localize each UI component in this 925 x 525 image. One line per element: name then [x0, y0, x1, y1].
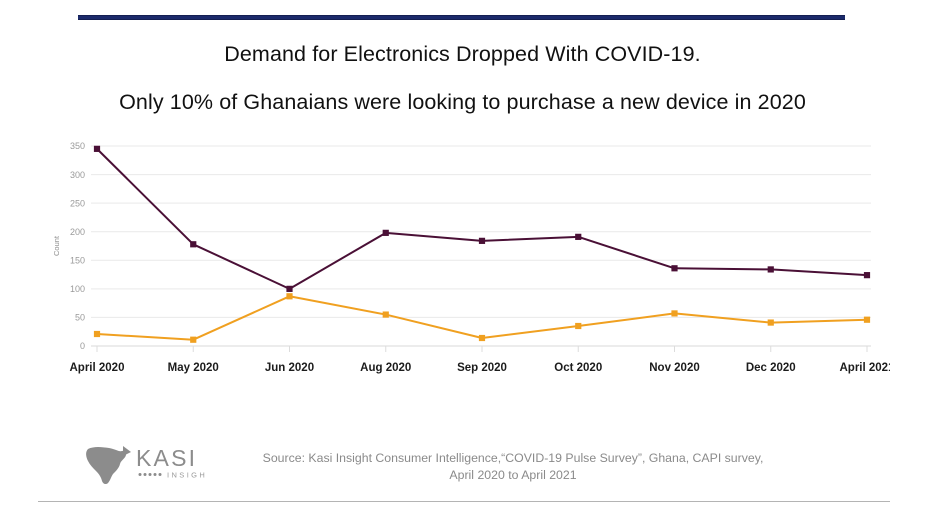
x-tick-label: Jun 2020	[265, 362, 314, 374]
y-tick-label: 250	[70, 198, 85, 208]
x-tick-label: April 2020	[70, 362, 125, 374]
x-tick-label: May 2020	[168, 362, 219, 374]
data-point-marker[interactable]	[383, 312, 388, 317]
y-tick-label: 200	[70, 227, 85, 237]
data-point-marker[interactable]	[576, 324, 581, 329]
logo-wordmark: KASI	[136, 445, 197, 471]
x-tick-label: Dec 2020	[746, 362, 796, 374]
source-note: Source: Kasi Insight Consumer Intelligen…	[218, 450, 808, 484]
kasi-insight-logo: KASI INSIGHT	[82, 443, 207, 489]
x-tick-label: Sep 2020	[457, 362, 507, 374]
logo-dots-icon	[139, 473, 162, 476]
data-point-marker[interactable]	[576, 234, 581, 239]
slide-canvas: Demand for Electronics Dropped With COVI…	[0, 0, 925, 525]
series-line-1	[97, 149, 867, 289]
y-axis-title: Count	[52, 235, 61, 256]
data-point-marker[interactable]	[191, 337, 196, 342]
data-point-marker[interactable]	[287, 294, 292, 299]
logo-svg: KASI INSIGHT	[82, 443, 207, 489]
source-line-1: Source: Kasi Insight Consumer Intelligen…	[218, 450, 808, 467]
x-tick-label: Nov 2020	[649, 362, 700, 374]
data-point-marker[interactable]	[672, 311, 677, 316]
data-point-marker[interactable]	[768, 267, 773, 272]
y-tick-label: 150	[70, 255, 85, 265]
chart-svg: 050100150200250300350 April 2020May 2020…	[45, 138, 890, 388]
chart-series-layer	[95, 146, 870, 342]
page-subtitle: Only 10% of Ghanaians were looking to pu…	[0, 90, 925, 115]
data-point-marker[interactable]	[287, 286, 292, 291]
page-title: Demand for Electronics Dropped With COVI…	[0, 42, 925, 67]
data-point-marker[interactable]	[95, 332, 100, 337]
y-tick-label: 350	[70, 141, 85, 151]
series-line-2	[97, 296, 867, 339]
chart-gridlines	[91, 146, 871, 346]
logo-flag-icon	[123, 446, 131, 456]
logo-tagline: INSIGHT	[167, 471, 207, 480]
chart-x-axis: April 2020May 2020Jun 2020Aug 2020Sep 20…	[70, 346, 890, 374]
x-tick-label: April 2021	[840, 362, 890, 374]
line-chart: 050100150200250300350 April 2020May 2020…	[45, 138, 890, 388]
header-accent-rule	[78, 15, 845, 20]
x-tick-label: Oct 2020	[554, 362, 602, 374]
footer-rule	[38, 501, 890, 502]
y-tick-label: 100	[70, 284, 85, 294]
africa-map-icon	[86, 447, 126, 484]
y-tick-label: 50	[75, 313, 85, 323]
data-point-marker[interactable]	[383, 230, 388, 235]
data-point-marker[interactable]	[768, 320, 773, 325]
x-tick-label: Aug 2020	[360, 362, 411, 374]
data-point-marker[interactable]	[95, 146, 100, 151]
data-point-marker[interactable]	[865, 317, 870, 322]
data-point-marker[interactable]	[480, 336, 485, 341]
data-point-marker[interactable]	[480, 238, 485, 243]
source-line-2: April 2020 to April 2021	[218, 467, 808, 484]
data-point-marker[interactable]	[865, 273, 870, 278]
y-tick-label: 300	[70, 170, 85, 180]
data-point-marker[interactable]	[672, 266, 677, 271]
data-point-marker[interactable]	[191, 242, 196, 247]
chart-y-axis: 050100150200250300350	[70, 141, 85, 351]
y-tick-label: 0	[80, 341, 85, 351]
